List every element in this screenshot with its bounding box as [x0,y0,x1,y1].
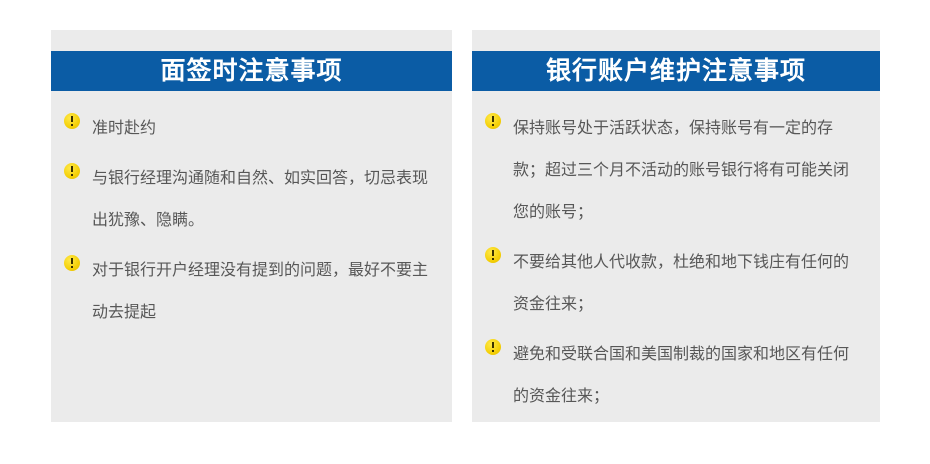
bullet-list-right: 保持账号处于活跃状态，保持账号有一定的存款；超过三个月不活动的账号银行将有可能关… [485,107,858,417]
panel-mianqian-notes: 面签时注意事项 准时赴约 与银行经理沟通随和自然、如实回答，切忌表现出犹豫、隐瞒… [51,30,452,422]
warning-exclamation-icon [485,339,501,355]
list-item: 准时赴约 [64,107,430,149]
list-item: 避免和受联合国和美国制裁的国家和地区有任何的资金往来； [485,333,858,417]
infographic-canvas: 面签时注意事项 准时赴约 与银行经理沟通随和自然、如实回答，切忌表现出犹豫、隐瞒… [0,0,930,464]
list-item-text: 不要给其他人代收款，杜绝和地下钱庄有任何的资金往来； [513,241,858,325]
warning-exclamation-icon [64,113,80,129]
list-item-text: 保持账号处于活跃状态，保持账号有一定的存款；超过三个月不活动的账号银行将有可能关… [513,107,858,233]
panel-title-bar-left: 面签时注意事项 [51,51,452,91]
warning-exclamation-icon [485,247,501,263]
list-item: 保持账号处于活跃状态，保持账号有一定的存款；超过三个月不活动的账号银行将有可能关… [485,107,858,233]
warning-exclamation-icon [485,113,501,129]
warning-exclamation-icon [64,163,80,179]
list-item-text: 避免和受联合国和美国制裁的国家和地区有任何的资金往来； [513,333,858,417]
panel-body-left: 准时赴约 与银行经理沟通随和自然、如实回答，切忌表现出犹豫、隐瞒。 对于银行开户… [51,91,452,333]
list-item-text: 对于银行开户经理没有提到的问题，最好不要主动去提起 [92,249,430,333]
panel-account-maintenance-notes: 银行账户维护注意事项 保持账号处于活跃状态，保持账号有一定的存款；超过三个月不活… [472,30,880,422]
warning-exclamation-icon [64,255,80,271]
panel-body-right: 保持账号处于活跃状态，保持账号有一定的存款；超过三个月不活动的账号银行将有可能关… [472,91,880,417]
list-item: 不要给其他人代收款，杜绝和地下钱庄有任何的资金往来； [485,241,858,325]
panel-title-bar-right: 银行账户维护注意事项 [472,51,880,91]
list-item: 与银行经理沟通随和自然、如实回答，切忌表现出犹豫、隐瞒。 [64,157,430,241]
list-item-text: 与银行经理沟通随和自然、如实回答，切忌表现出犹豫、隐瞒。 [92,157,430,241]
list-item-text: 准时赴约 [92,107,430,149]
list-item: 对于银行开户经理没有提到的问题，最好不要主动去提起 [64,249,430,333]
bullet-list-left: 准时赴约 与银行经理沟通随和自然、如实回答，切忌表现出犹豫、隐瞒。 对于银行开户… [64,107,430,333]
